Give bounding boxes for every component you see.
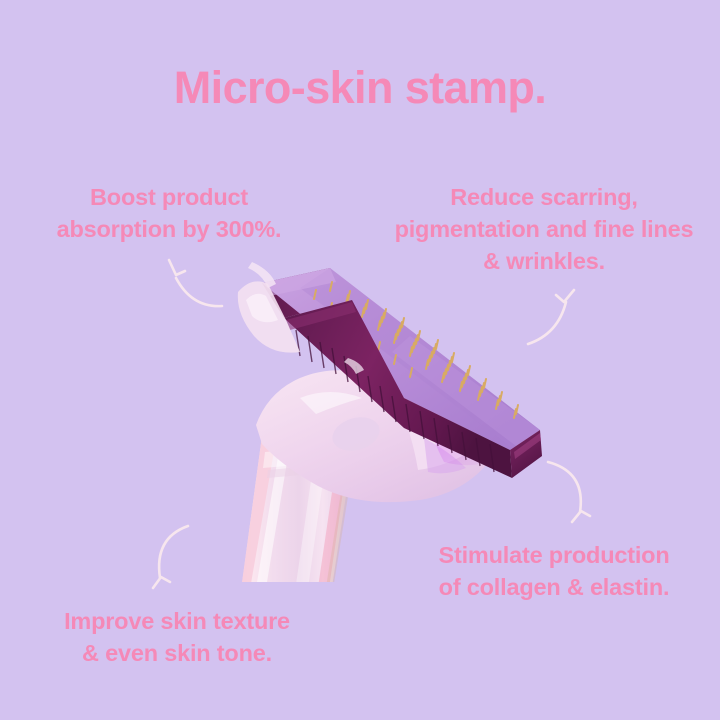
benefit-texture-caption: Improve skin texture & even skin tone. [22, 606, 332, 670]
benefit-collagen-caption: Stimulate production of collagen & elast… [404, 540, 704, 604]
arrow-to-bottom-left-caption-icon [132, 518, 200, 596]
page-title: Micro-skin stamp. [0, 64, 720, 111]
benefit-absorption-caption: Boost product absorption by 300%. [24, 182, 314, 246]
poster-canvas: Micro-skin stamp. Boost product absorpti… [0, 0, 720, 720]
arrow-to-bottom-right-caption-icon [548, 452, 626, 530]
arrow-to-top-left-caption-icon [160, 252, 230, 316]
benefit-scarring-caption: Reduce scarring, pigmentation and fine l… [384, 182, 704, 278]
arrow-to-top-right-caption-icon [524, 288, 586, 352]
